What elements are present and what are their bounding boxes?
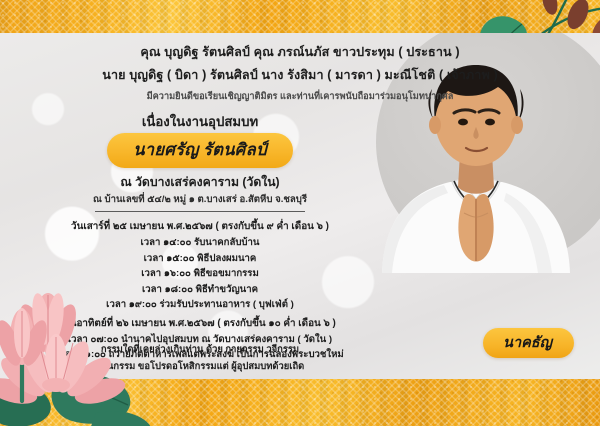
invitation-sentence: มีความยินดีขอเรียนเชิญญาติมิตร และท่านที…	[0, 88, 600, 105]
host-line-2: นาย บุญดิฐ ( บิดา ) รัตนศิลป์ นาง รังสิม…	[0, 64, 600, 87]
schedule-day-2-date: วันอาทิตย์ที่ ๒๖ เมษายน พ.ศ.๒๕๖๗ ( ตรงกั…	[0, 316, 400, 332]
schedule-day-1-item-1: เวลา ๑๔:๐๐ รับนาคกลับบ้าน	[0, 235, 400, 251]
schedule-day-1-item-5: เวลา ๑๙:๐๐ ร่วมรับประทานอาหาร ( บุฟเฟ่ต์…	[0, 297, 400, 313]
schedule-day-1-item-3: เวลา ๑๖:๐๐ พิธีขอขมากรรม	[0, 266, 400, 282]
ordinand-badge: นาคธัญ	[483, 328, 574, 358]
ordinand-badge-label: นาคธัญ	[503, 335, 552, 351]
schedule-day-1-item-4: เวลา ๑๘:๐๐ พิธีทำขวัญนาค	[0, 282, 400, 298]
host-line-1: คุณ บุญดิฐ รัตนศิลป์ คุณ ภรณ์นภัส ขาวประ…	[0, 41, 600, 64]
schedule-day-1-item-2: เวลา ๑๕:๐๐ พิธีปลงผมนาค	[0, 251, 400, 267]
venue-address: ณ บ้านเลขที่ ๕๔/๒ หมู่ ๑ ต.บางเสร่ อ.สัต…	[0, 192, 400, 207]
footer-line-2: มโนกรรม ขอโปรดอโหสิกรรมแต่ ผู้อุปสมบทด้ว…	[0, 358, 400, 375]
schedule-day-1-date: วันเสาร์ที่ ๒๕ เมษายน พ.ศ.๒๕๖๗ ( ตรงกับข…	[0, 219, 400, 235]
host-names-block: คุณ บุญดิฐ รัตนศิลป์ คุณ ภรณ์นภัส ขาวประ…	[0, 41, 600, 105]
footer-line-1: กรรมใดที่เคยล่วงเกินท่าน ด้วย กายกรรม วจ…	[0, 341, 400, 358]
ordinand-name: นายศรัญ รัตนศิลป์	[133, 140, 267, 159]
ordinand-name-pill: นายศรัญ รัตนศิลป์	[107, 133, 293, 168]
occasion-heading: เนื่องในงานอุปสมบท	[0, 111, 400, 132]
ordination-invitation-card: คุณ บุญดิฐ รัตนศิลป์ คุณ ภรณ์นภัส ขาวประ…	[0, 0, 600, 426]
section-divider	[95, 211, 305, 212]
temple-name: ณ วัดบางเสร่คงคาราม (วัดใน)	[0, 173, 400, 192]
content-panel: คุณ บุญดิฐ รัตนศิลป์ คุณ ภรณ์นภัส ขาวประ…	[0, 33, 600, 379]
ordinand-name-pill-wrap: นายศรัญ รัตนศิลป์	[0, 133, 400, 168]
footer-block: กรรมใดที่เคยล่วงเกินท่าน ด้วย กายกรรม วจ…	[0, 341, 400, 379]
